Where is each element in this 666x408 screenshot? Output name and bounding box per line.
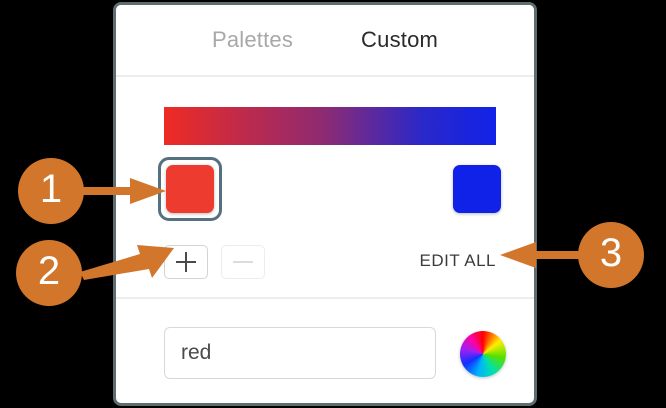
callout-badge-3: 3: [578, 222, 644, 288]
callout-arrow-1: [78, 178, 168, 204]
swatch-row: [158, 161, 502, 221]
screenshot-root: Palettes Custom EDIT ALL: [0, 0, 666, 408]
swatch-controls: EDIT ALL: [164, 243, 496, 285]
plus-icon: [176, 252, 196, 272]
callout-badge-1: 1: [18, 158, 84, 224]
swatch-blue[interactable]: [453, 165, 501, 213]
tab-bar: Palettes Custom: [116, 5, 534, 74]
minus-icon: [233, 261, 253, 263]
controls-divider: [116, 297, 534, 299]
remove-color-button[interactable]: [221, 245, 265, 279]
callout-number-2: 2: [38, 251, 60, 291]
color-wheel-icon[interactable]: [460, 331, 506, 377]
callout-arrow-3: [500, 242, 588, 268]
swatch-red[interactable]: [166, 165, 214, 213]
callout-arrow-2: [78, 232, 178, 278]
color-picker-panel: Palettes Custom EDIT ALL: [113, 2, 537, 406]
color-name-input[interactable]: [164, 327, 436, 379]
callout-number-3: 3: [600, 233, 622, 273]
tab-custom[interactable]: Custom: [361, 27, 438, 53]
tab-palettes[interactable]: Palettes: [212, 27, 293, 53]
tab-divider: [116, 75, 534, 77]
gradient-preview-bar[interactable]: [164, 107, 496, 145]
edit-all-link[interactable]: EDIT ALL: [420, 251, 496, 271]
color-name-row: [164, 327, 516, 379]
callout-badge-2: 2: [16, 240, 82, 306]
callout-number-1: 1: [40, 169, 62, 209]
